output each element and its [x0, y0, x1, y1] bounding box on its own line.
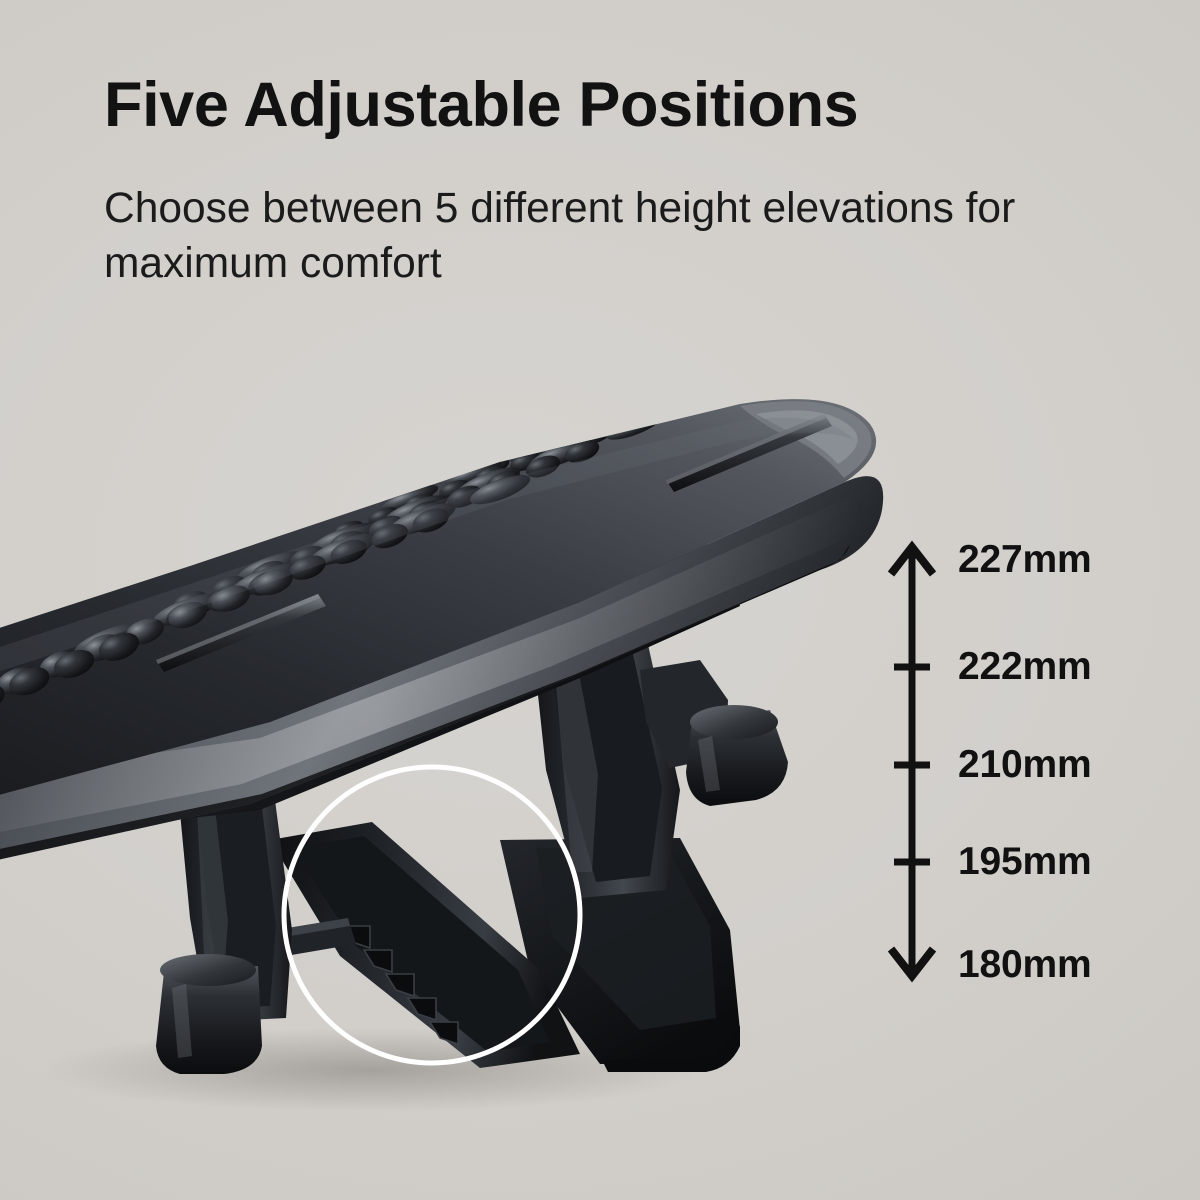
scale-label-210: 210mm: [958, 743, 1091, 787]
scale-label-195: 195mm: [958, 840, 1091, 884]
page-title: Five Adjustable Positions: [104, 72, 1114, 139]
scale-label-list: 227mm 222mm 210mm 195mm 180mm: [880, 520, 1180, 1000]
roller-foot-left: [156, 954, 262, 1074]
scale-label-227: 227mm: [958, 538, 1091, 582]
product-image: [0, 370, 950, 1130]
roller-foot-right: [686, 705, 788, 806]
height-scale: 227mm 222mm 210mm 195mm 180mm: [880, 520, 1180, 1000]
headings-block: Five Adjustable Positions Choose between…: [104, 72, 1114, 291]
product-feature-banner: Five Adjustable Positions Choose between…: [0, 0, 1200, 1200]
scale-label-222: 222mm: [958, 645, 1091, 689]
page-subtitle: Choose between 5 different height elevat…: [104, 181, 1114, 292]
scale-label-180: 180mm: [958, 943, 1091, 987]
